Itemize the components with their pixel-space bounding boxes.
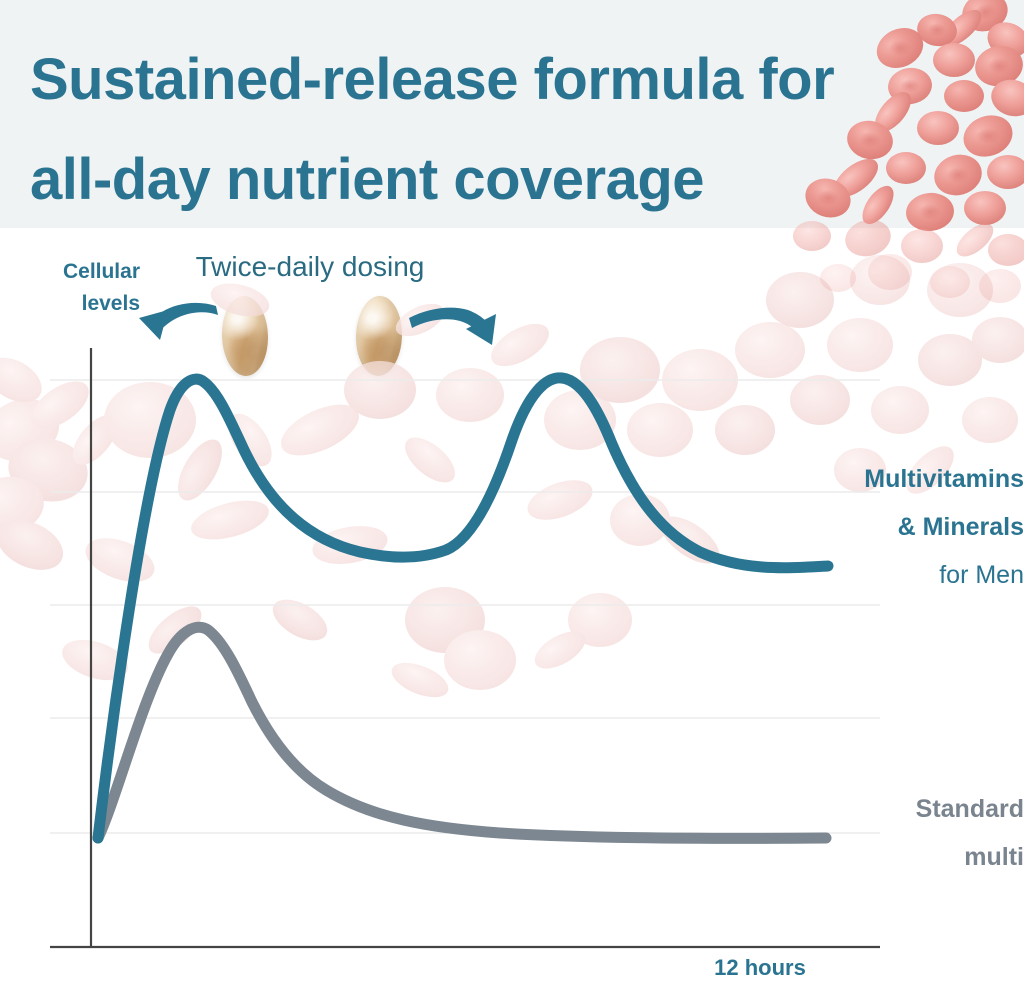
y-axis-label: Cellular levels xyxy=(0,256,140,320)
legend-mvm-line-2: & Minerals xyxy=(800,503,1024,551)
legend-std-line-2: multi xyxy=(800,833,1024,881)
legend-standard-multi: Standard multi xyxy=(800,785,1024,881)
legend-multivitamins: Multivitamins & Minerals for Men xyxy=(800,455,1024,599)
infographic-canvas: Sustained-release formula for all-day nu… xyxy=(0,0,1024,991)
dosing-annotation: Twice-daily dosing xyxy=(160,250,460,284)
legend-std-line-1: Standard xyxy=(800,785,1024,833)
x-axis-label: 12 hours xyxy=(660,955,860,981)
legend-mvm-line-1: Multivitamins xyxy=(800,455,1024,503)
chart-body: Cellular levels Twice-daily dosing Multi… xyxy=(0,228,1024,991)
legend-mvm-line-3: for Men xyxy=(800,551,1024,599)
y-axis-label-line-1: Cellular xyxy=(0,256,140,288)
y-axis-label-line-2: levels xyxy=(0,288,140,320)
